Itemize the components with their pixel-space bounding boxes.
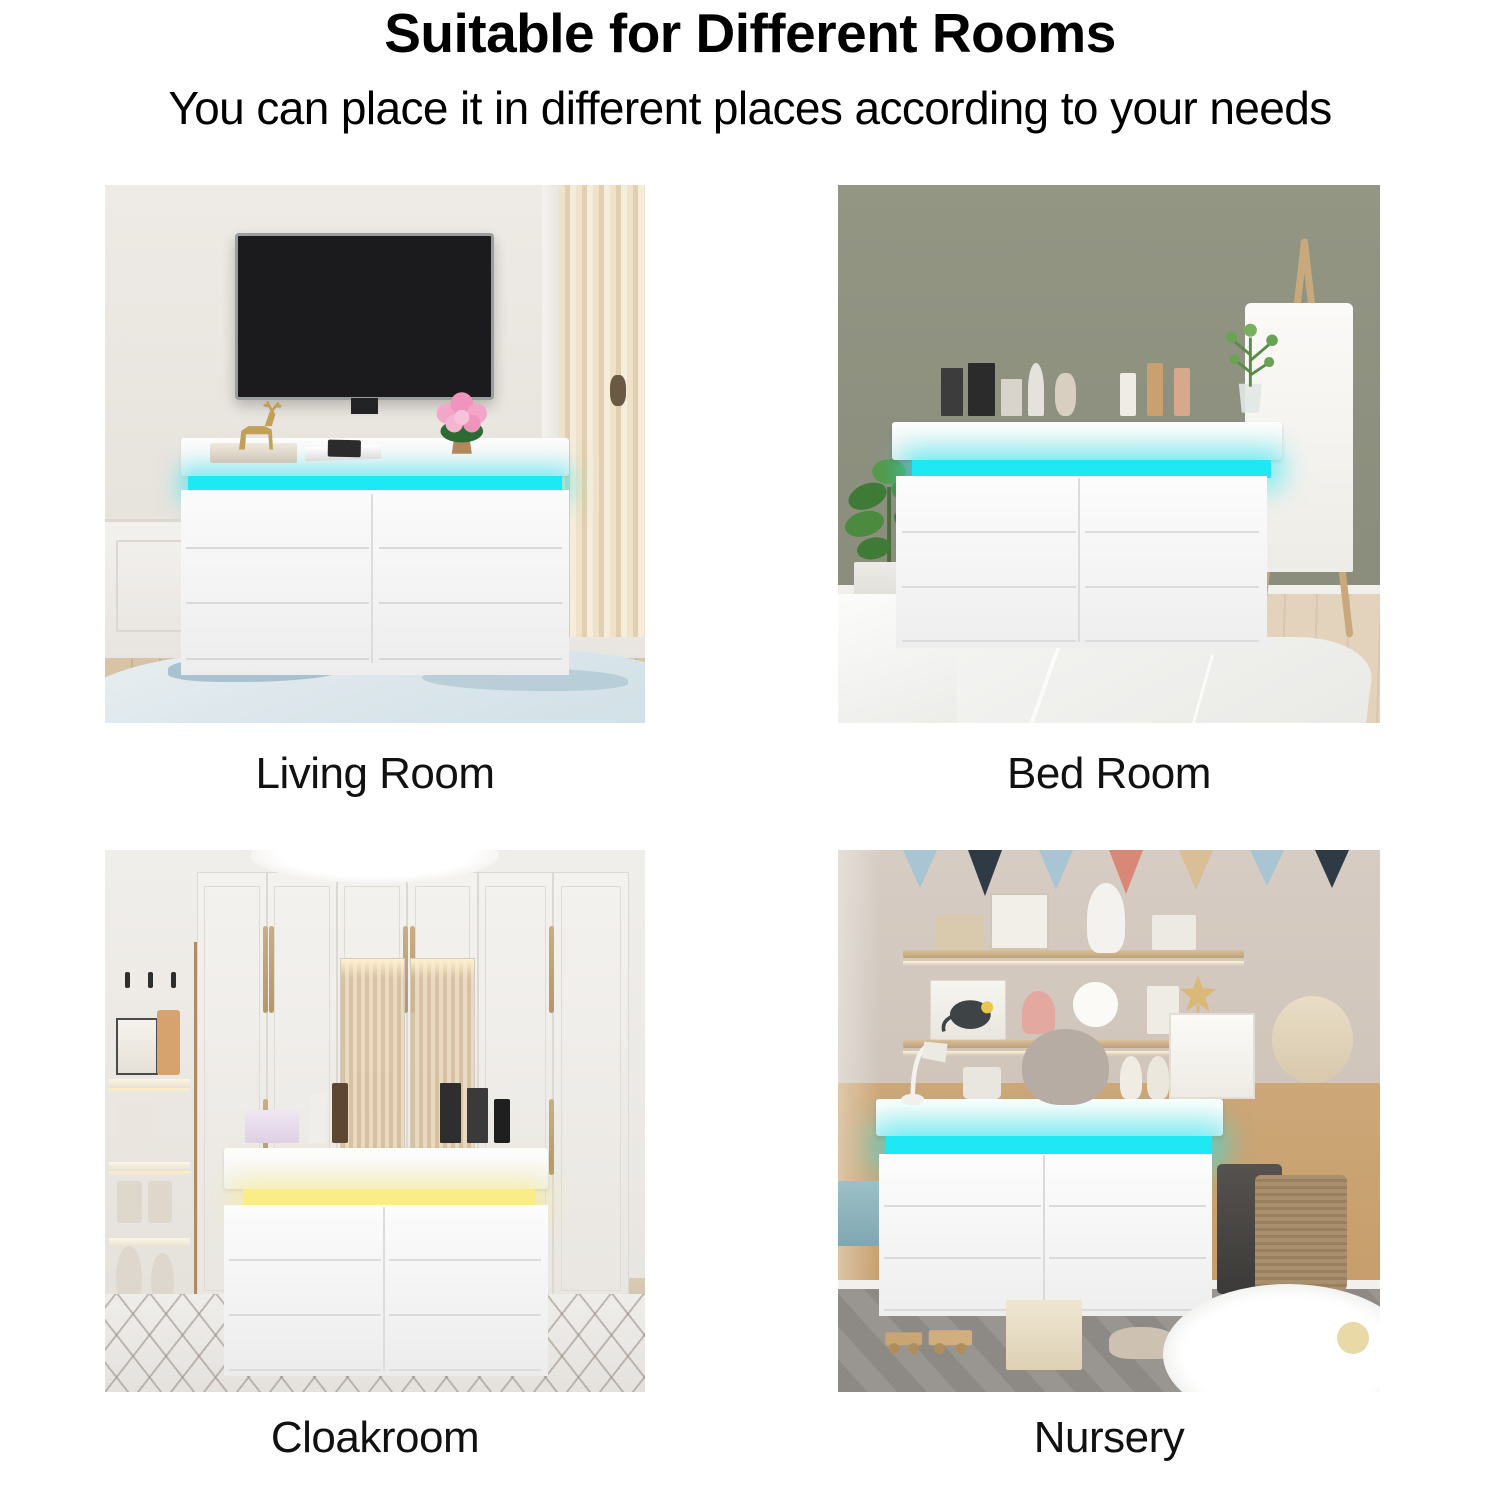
dresser-top xyxy=(892,422,1282,460)
dresser-top xyxy=(224,1148,548,1189)
glass-glow xyxy=(341,959,404,978)
makeup-brushes xyxy=(467,1088,489,1142)
desk-lamp xyxy=(898,1023,958,1104)
caption-cloakroom: Cloakroom xyxy=(105,1412,645,1464)
scene-photo-cloakroom xyxy=(105,850,645,1392)
drawer[interactable] xyxy=(379,495,562,549)
wardrobe-door[interactable] xyxy=(553,872,629,1306)
shelf-glow xyxy=(109,1171,191,1176)
door-handle[interactable] xyxy=(549,926,554,1013)
toy-house xyxy=(1006,1300,1082,1370)
bunting-flag xyxy=(1315,850,1349,888)
drawer[interactable] xyxy=(902,534,1076,587)
bear-wall-plaque xyxy=(1272,996,1353,1083)
coat-hook[interactable] xyxy=(171,972,176,988)
toy-box xyxy=(1152,915,1195,950)
drawer[interactable] xyxy=(1085,589,1259,642)
cosmetic-box xyxy=(1001,379,1023,417)
page-subtitle: You can place it in different places acc… xyxy=(0,80,1500,136)
drawer[interactable] xyxy=(229,1208,381,1261)
caption-living-room: Living Room xyxy=(105,748,645,800)
deer-icon xyxy=(218,398,288,452)
bird-figurine xyxy=(1022,991,1055,1034)
curtain xyxy=(559,185,645,637)
drawer[interactable] xyxy=(379,606,562,660)
drawer-divider xyxy=(383,1207,385,1371)
lamp-icon xyxy=(898,1023,958,1104)
drawer[interactable] xyxy=(884,1157,1041,1207)
makeup-brush-holder xyxy=(941,368,963,416)
lipstick xyxy=(1174,368,1190,416)
bunting-flag xyxy=(1039,850,1073,890)
drawer[interactable] xyxy=(229,1263,381,1316)
drawer[interactable] xyxy=(1049,1157,1206,1207)
drawer[interactable] xyxy=(389,1263,541,1316)
magazine xyxy=(305,445,381,462)
lotion-bottle xyxy=(1120,373,1136,416)
drawer[interactable] xyxy=(186,495,369,549)
drawer[interactable] xyxy=(902,479,1076,532)
curtain-tieback xyxy=(610,375,626,407)
elephant-plush xyxy=(1022,1029,1109,1105)
rose-bouquet xyxy=(424,381,500,456)
drawer[interactable] xyxy=(229,1318,381,1371)
storage-item xyxy=(117,1101,153,1150)
drawer[interactable] xyxy=(186,551,369,605)
curtain-area xyxy=(559,185,645,637)
toy-figure xyxy=(1147,1056,1169,1099)
drawer[interactable] xyxy=(389,1208,541,1261)
led-dresser xyxy=(181,438,570,675)
storage-box xyxy=(117,1181,142,1223)
scene-photo-living-room xyxy=(105,185,645,723)
toy-figure xyxy=(1120,1056,1142,1099)
framed-art xyxy=(1169,1013,1256,1100)
framed-art xyxy=(990,893,1050,950)
ball-toy xyxy=(1337,1322,1370,1355)
drawer-divider xyxy=(371,494,373,664)
dresser-body xyxy=(224,1205,548,1376)
perfume-bottle xyxy=(1055,373,1077,416)
door-panel xyxy=(561,886,621,1292)
shelf-glow xyxy=(903,961,1244,966)
window-bench xyxy=(838,1181,881,1246)
wall-mounted-tv xyxy=(235,233,494,400)
dresser-body xyxy=(181,490,570,675)
drawer[interactable] xyxy=(1085,479,1259,532)
drawer[interactable] xyxy=(1049,1209,1206,1259)
drawer-divider xyxy=(1043,1155,1045,1311)
tv-mount xyxy=(351,398,378,414)
led-dresser xyxy=(224,1148,548,1376)
wicker-basket xyxy=(1255,1175,1347,1294)
makeup-brushes xyxy=(968,363,995,417)
bunting-flag xyxy=(1250,850,1284,886)
niche-shelf xyxy=(109,1238,191,1247)
makeup-brushes xyxy=(440,1083,462,1143)
door-handle[interactable] xyxy=(549,1099,554,1175)
cosmetic-palette xyxy=(245,1110,299,1143)
infographic-page: Suitable for Different Rooms You can pla… xyxy=(0,0,1500,1485)
glass-glow xyxy=(411,959,474,978)
page-title: Suitable for Different Rooms xyxy=(0,2,1500,64)
toy-house xyxy=(936,915,985,950)
drawer[interactable] xyxy=(902,589,1076,642)
rug-pattern xyxy=(1187,654,1214,723)
perfume-bottle xyxy=(1147,363,1163,417)
wooden-train-toy xyxy=(881,1316,979,1359)
bunting-flag xyxy=(1179,850,1213,890)
rug-pattern xyxy=(1023,642,1061,723)
scene-card-bed-room xyxy=(838,185,1380,723)
bunting-flag xyxy=(968,850,1002,896)
led-dresser xyxy=(876,1099,1223,1316)
reed-diffuser xyxy=(332,1083,348,1143)
drawer[interactable] xyxy=(389,1318,541,1371)
drawer-divider xyxy=(1078,478,1080,643)
scene-card-nursery xyxy=(838,850,1380,1392)
deer-figurine xyxy=(218,398,288,452)
scene-card-cloakroom xyxy=(105,850,645,1392)
coat-hook[interactable] xyxy=(125,972,130,988)
perfume-bottle xyxy=(1028,363,1044,417)
drawer[interactable] xyxy=(884,1209,1041,1259)
framed-picture xyxy=(116,1018,159,1075)
wall-clock xyxy=(1071,980,1120,1029)
display-niche xyxy=(105,942,197,1321)
door-handle[interactable] xyxy=(263,926,268,1013)
drawer[interactable] xyxy=(379,551,562,605)
handbag xyxy=(157,1010,180,1074)
flowers-icon xyxy=(424,381,500,456)
dresser-body xyxy=(896,476,1267,648)
led-dresser xyxy=(892,422,1282,648)
niche-shelf xyxy=(109,1079,191,1088)
caption-bed-room: Bed Room xyxy=(838,748,1380,800)
small-plant-pot xyxy=(963,1067,1001,1100)
scene-photo-bed-room xyxy=(838,185,1380,723)
coat-hook[interactable] xyxy=(148,972,153,988)
drawer[interactable] xyxy=(186,606,369,660)
dresser-body xyxy=(879,1154,1212,1317)
train-icon xyxy=(881,1316,979,1359)
caption-nursery: Nursery xyxy=(838,1412,1380,1464)
scene-card-living-room xyxy=(105,185,645,723)
lotion-bottle xyxy=(310,1094,326,1143)
storage-box xyxy=(148,1181,173,1223)
drawer[interactable] xyxy=(1085,534,1259,587)
door-handle[interactable] xyxy=(269,926,274,1013)
niche-shelf xyxy=(109,1162,191,1171)
wooden-shelf xyxy=(903,950,1244,958)
plant-vase xyxy=(1207,314,1294,422)
bunny-figurine xyxy=(1087,883,1125,953)
scene-photo-nursery xyxy=(838,850,1380,1392)
vase-plant-icon xyxy=(1207,314,1294,422)
shelf-glow xyxy=(109,1088,191,1093)
bunting-flag xyxy=(903,850,937,888)
cosmetic-bottle xyxy=(494,1099,510,1142)
